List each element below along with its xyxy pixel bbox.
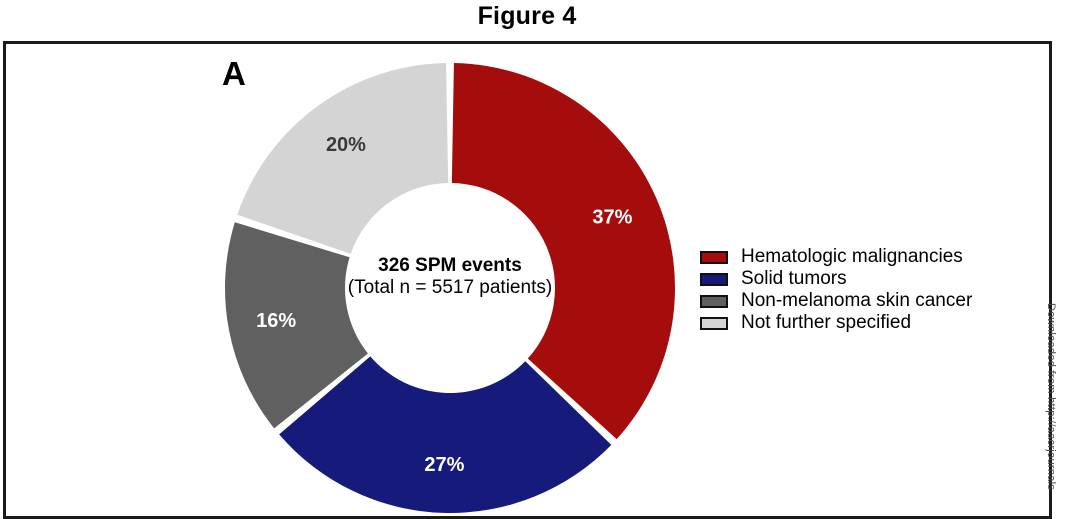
chart-legend: Hematologic malignanciesSolid tumorsNon-… [700,246,972,334]
donut-slice-label: 20% [326,134,366,156]
legend-label: Hematologic malignancies [741,246,963,268]
legend-swatch [700,273,728,286]
donut-center-text: 326 SPM events (Total n = 5517 patients) [330,255,570,300]
donut-slice-label: 37% [592,207,632,229]
legend-swatch [700,317,728,330]
center-events-count: 326 SPM events [330,255,570,277]
legend-label: Solid tumors [741,268,847,290]
donut-slice [452,63,675,439]
legend-swatch [700,295,728,308]
download-watermark: Downloaded from http://aacrjournals [837,303,1057,319]
legend-swatch [700,251,728,264]
center-total-patients: (Total n = 5517 patients) [330,277,570,299]
legend-item: Solid tumors [700,268,972,290]
figure-title: Figure 4 [0,2,1054,31]
donut-slice-label: 27% [424,454,464,476]
donut-slice [237,63,448,254]
legend-item: Hematologic malignancies [700,246,972,268]
donut-slice-label: 16% [256,310,296,332]
